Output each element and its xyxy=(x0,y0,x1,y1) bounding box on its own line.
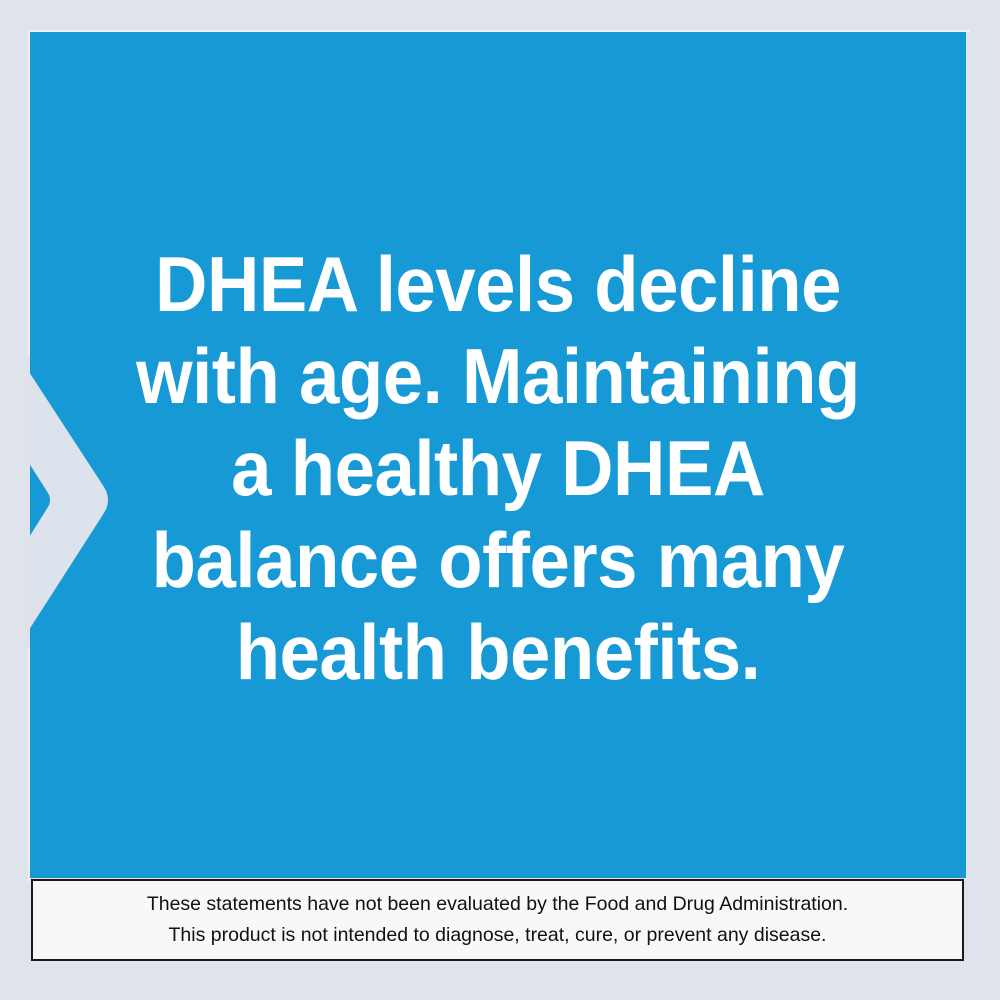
headline-line-1: DHEA levels decline xyxy=(63,238,933,330)
headline: DHEA levels decline with age. Maintainin… xyxy=(63,238,933,698)
headline-line-2: with age. Maintaining xyxy=(63,330,933,422)
promo-graphic-canvas: DHEA levels decline with age. Maintainin… xyxy=(0,0,1000,1000)
disclaimer-line-2: This product is not intended to diagnose… xyxy=(169,920,827,951)
fda-disclaimer-box: These statements have not been evaluated… xyxy=(31,879,964,961)
headline-line-3: a healthy DHEA xyxy=(63,422,933,514)
headline-line-5: health benefits. xyxy=(63,606,933,698)
headline-line-4: balance offers many xyxy=(63,514,933,606)
disclaimer-line-1: These statements have not been evaluated… xyxy=(147,889,848,920)
